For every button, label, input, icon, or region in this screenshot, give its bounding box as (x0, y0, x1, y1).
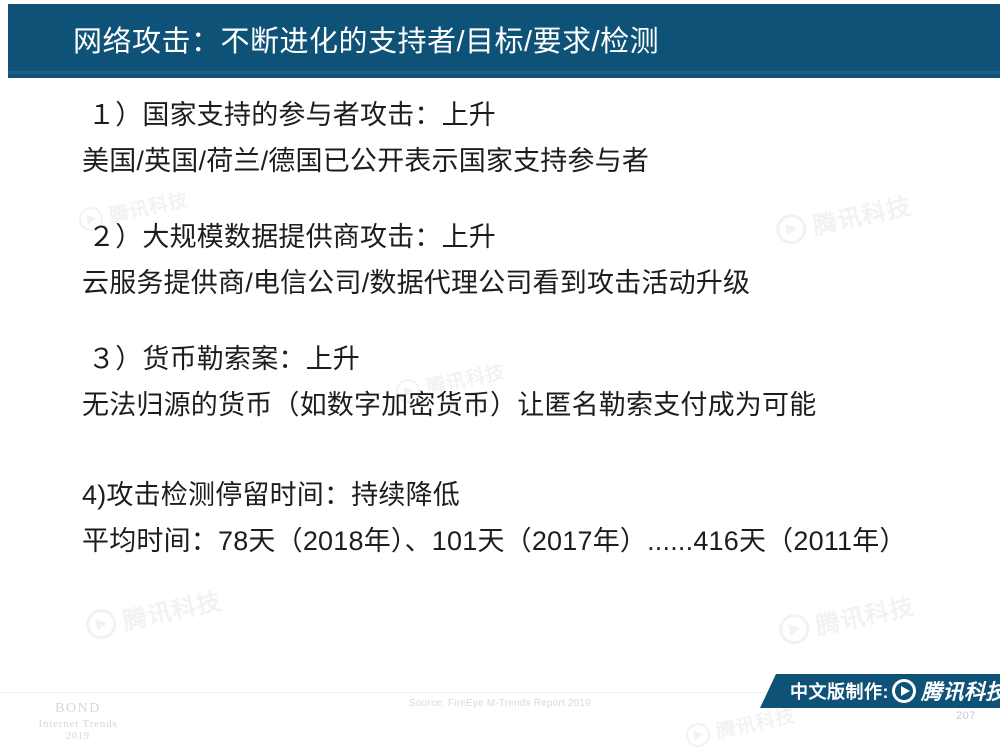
banner-prefix-label: 中文版制作: (790, 678, 889, 704)
bullet-1-heading: １）国家支持的参与者攻击：上升 (0, 92, 1000, 138)
banner-brand-label: 腾讯科技 (921, 676, 1000, 706)
bullet-block-1: １）国家支持的参与者攻击：上升 美国/英国/荷兰/德国已公开表示国家支持参与者 (0, 92, 1000, 184)
slide-canvas: 网络攻击：不断进化的支持者/目标/要求/检测 腾讯科技 腾讯科技 腾讯科技 腾讯… (0, 0, 1000, 750)
bullet-4-heading: 4)攻击检测停留时间：持续降低 (0, 472, 1000, 518)
tencent-watermark-label: 腾讯科技 (812, 586, 917, 641)
bullet-block-2: ２）大规模数据提供商攻击：上升 云服务提供商/电信公司/数据代理公司看到攻击活动… (0, 214, 1000, 306)
page-title: 网络攻击：不断进化的支持者/目标/要求/检测 (73, 22, 659, 62)
bullet-1-detail: 美国/英国/荷兰/德国已公开表示国家支持参与者 (0, 138, 1000, 184)
tencent-credit-banner: 中文版制作: 腾讯科技 (760, 674, 1000, 708)
bullet-block-3: ３）货币勒索案：上升 无法归源的货币（如数字加密货币）让匿名勒索支付成为可能 (0, 336, 1000, 428)
bullet-2-heading: ２）大规模数据提供商攻击：上升 (0, 214, 1000, 260)
tencent-watermark: 腾讯科技 (776, 586, 917, 649)
slide-body: １）国家支持的参与者攻击：上升 美国/英国/荷兰/德国已公开表示国家支持参与者 … (0, 92, 1000, 594)
bullet-3-detail: 无法归源的货币（如数字加密货币）让匿名勒索支付成为可能 (0, 382, 1000, 428)
header-bar: 网络攻击：不断进化的支持者/目标/要求/检测 (8, 4, 1000, 78)
tencent-watermark-ring (83, 606, 119, 642)
tencent-logo-icon (892, 679, 916, 703)
page-number: 207 (940, 710, 992, 722)
tencent-watermark-ring (684, 720, 712, 748)
bond-logo-subtitle: Internet Trends (18, 718, 138, 732)
bond-logo-year: 2019 (18, 731, 138, 744)
tencent-watermark-ring (776, 611, 812, 647)
bullet-block-4: 4)攻击检测停留时间：持续降低 平均时间：78天（2018年）、101天（201… (0, 472, 1000, 564)
bullet-2-detail: 云服务提供商/电信公司/数据代理公司看到攻击活动升级 (0, 260, 1000, 306)
bullet-3-heading: ３）货币勒索案：上升 (0, 336, 1000, 382)
bullet-4-detail: 平均时间：78天（2018年）、101天（2017年）......416天（20… (0, 518, 1000, 564)
